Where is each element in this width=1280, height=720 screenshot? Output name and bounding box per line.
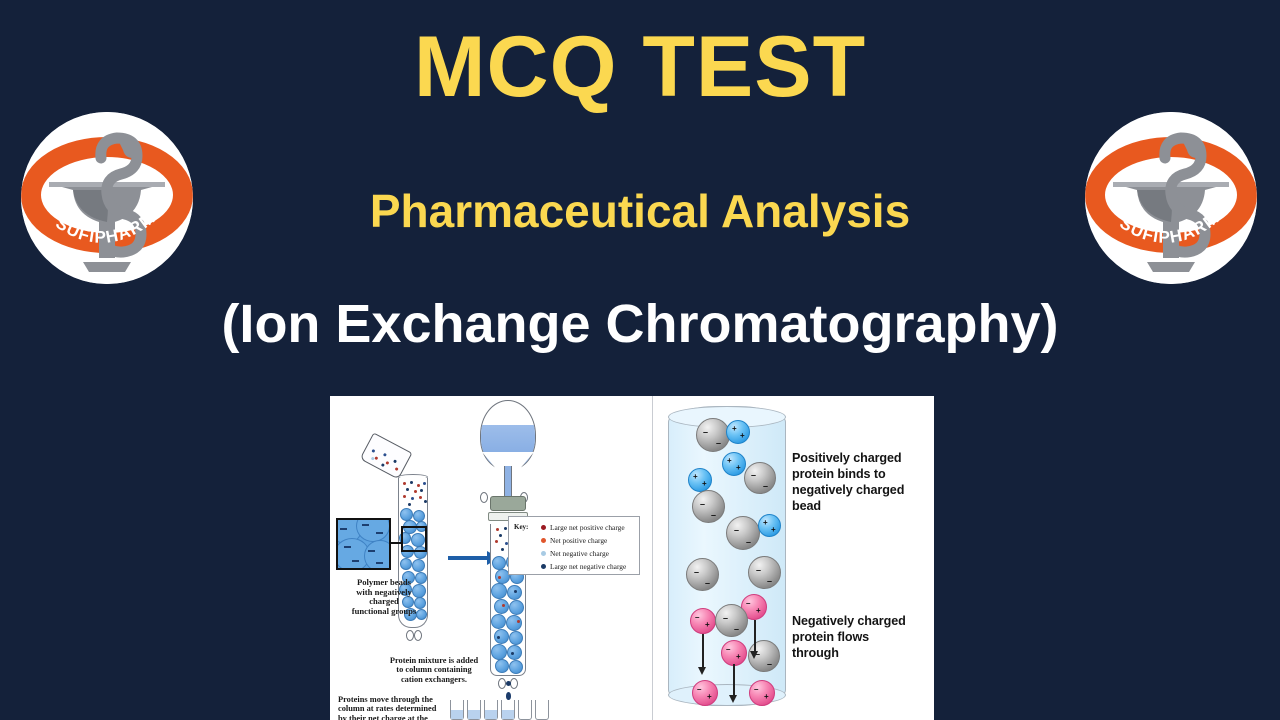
negative-protein-sphere: – +	[749, 680, 775, 706]
legend-title: Key:	[514, 523, 528, 531]
positive-protein-sphere: + +	[758, 514, 781, 537]
bead-sphere: – –	[686, 558, 719, 591]
pouring-beaker-icon	[360, 432, 413, 479]
bead-magnification-inset	[336, 518, 391, 570]
legend-label: Net positive charge	[550, 536, 607, 545]
legend-swatch-positive	[541, 538, 546, 543]
eluent-reservoir	[480, 400, 536, 496]
caption-negative-flows: Negatively charged protein flows through	[792, 614, 932, 662]
bead-sphere: – –	[692, 490, 725, 523]
legend-swatch-large-negative	[541, 564, 546, 569]
caption-protein-mixture: Protein mixture is added to column conta…	[358, 656, 510, 684]
column-1-stopcock	[406, 630, 422, 643]
ion-exchange-diagram: Polymer beads with negatively charged fu…	[330, 396, 934, 720]
caption-line: Positively charged	[792, 451, 932, 467]
caption-line: by their net charge at the	[338, 714, 488, 720]
collection-tube	[501, 700, 515, 720]
positive-protein-sphere: + +	[688, 468, 712, 492]
legend-label: Net negative charge	[550, 549, 609, 558]
inset-source-box	[401, 526, 427, 552]
negative-protein-sphere: – +	[690, 608, 716, 634]
polymer-beads-label: Polymer beads with negatively charged fu…	[332, 578, 436, 617]
slide-root: SUFIPHARM SUFIPHARM MCQ TEST Pharmaceuti…	[0, 0, 1280, 720]
eluate-droplet-icon	[506, 692, 511, 700]
legend-item: Large net negative charge	[541, 561, 626, 571]
legend-key-box: Key: Large net positive charge Net posit…	[508, 516, 640, 575]
caption-line: column at rates determined	[338, 704, 488, 713]
collection-tube	[518, 700, 532, 720]
page-title: MCQ TEST	[0, 22, 1280, 112]
column-2-cap	[490, 496, 526, 511]
caption-line: cation exchangers.	[358, 675, 510, 684]
flow-arrow-icon	[733, 664, 735, 696]
caption-line: through	[792, 646, 932, 662]
collection-tube	[535, 700, 549, 720]
caption-line: bead	[792, 499, 932, 515]
bead-sphere: – –	[748, 556, 781, 589]
process-arrow-icon	[448, 556, 488, 560]
negative-protein-sphere: – +	[721, 640, 747, 666]
legend-item: Net positive charge	[541, 535, 607, 545]
caption-line: Negatively charged	[792, 614, 932, 630]
legend-swatch-negative	[541, 551, 546, 556]
caption-line: Protein mixture is added	[358, 656, 510, 665]
legend-item: Large net positive charge	[541, 522, 625, 532]
caption-line: to column containing	[358, 665, 510, 674]
legend-label: Large net negative charge	[550, 562, 626, 571]
flow-arrow-icon	[754, 620, 756, 652]
caption-line: Proteins move through the	[338, 695, 488, 704]
page-subtitle: Pharmaceutical Analysis	[0, 186, 1280, 237]
legend-item: Net negative charge	[541, 548, 609, 558]
caption-proteins-move: Proteins move through the column at rate…	[338, 695, 488, 720]
bead-sphere: – –	[726, 516, 760, 550]
flow-arrow-icon	[702, 634, 704, 668]
positive-protein-sphere: + +	[722, 452, 746, 476]
page-topic: (Ion Exchange Chromatography)	[0, 295, 1280, 354]
bead-sphere: – –	[696, 418, 730, 452]
legend-label: Large net positive charge	[550, 523, 625, 532]
caption-line: protein flows	[792, 630, 932, 646]
caption-positive-binds: Positively charged protein binds to nega…	[792, 451, 932, 514]
panel-divider	[652, 396, 653, 720]
caption-line: negatively charged	[792, 483, 932, 499]
caption-line: protein binds to	[792, 467, 932, 483]
legend-swatch-large-positive	[541, 525, 546, 530]
bead-sphere: – –	[744, 462, 776, 494]
polymer-beads-label-line: functional groups	[332, 607, 436, 617]
bead-sphere: – –	[715, 604, 748, 637]
negative-protein-sphere: – +	[692, 680, 718, 706]
positive-protein-sphere: + +	[726, 420, 750, 444]
